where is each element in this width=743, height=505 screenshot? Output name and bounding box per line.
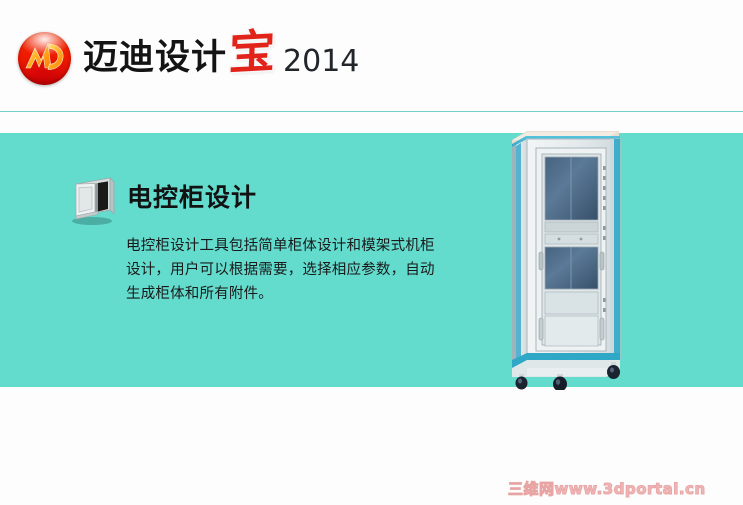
site-watermark: 三维网www.3dportal.cn	[508, 478, 706, 499]
brand-name-accent: 宝	[228, 28, 276, 76]
brand-year: 2014	[283, 47, 359, 77]
card-title: 电控柜设计	[127, 184, 257, 212]
card-description: 电控柜设计工具包括简单柜体设计和模架式机柜设计，用户可以根据需要，选择相应参数，…	[126, 234, 446, 306]
brand-name-zh: 迈迪设计	[83, 41, 227, 76]
product-photo-cabinet	[503, 122, 631, 390]
header-divider	[0, 111, 743, 112]
page-header: 迈迪设计 宝 2014	[0, 0, 743, 112]
slide-page: 迈迪设计 宝 2014 电控柜设计 电控柜设计工具包括简单柜体设计和模架式机柜设…	[0, 0, 743, 505]
maidi-circle-logo-icon	[18, 32, 71, 85]
electrical-cabinet-icon	[64, 172, 120, 228]
brand-lockup: 迈迪设计 宝 2014	[18, 28, 359, 88]
